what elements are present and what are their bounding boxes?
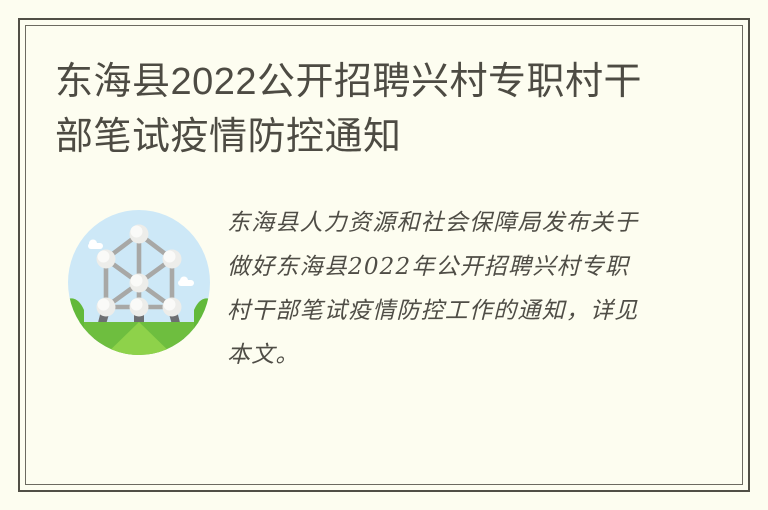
article-body-row: 东海县人力资源和社会保障局发布关于做好东海县2022年公开招聘兴村专职村干部笔试…	[25, 185, 743, 485]
article-card: 东海县2022公开招聘兴村专职村干部笔试疫情防控通知	[0, 0, 768, 510]
atomium-illustration-icon	[68, 210, 210, 355]
article-thumbnail[interactable]	[68, 210, 210, 355]
article-summary: 东海县人力资源和社会保障局发布关于做好东海县2022年公开招聘兴村专职村干部笔试…	[227, 201, 647, 377]
article-title: 东海县2022公开招聘兴村专职村干部笔试疫情防控通知	[55, 55, 675, 165]
card-content: 东海县2022公开招聘兴村专职村干部笔试疫情防控通知	[25, 25, 743, 485]
